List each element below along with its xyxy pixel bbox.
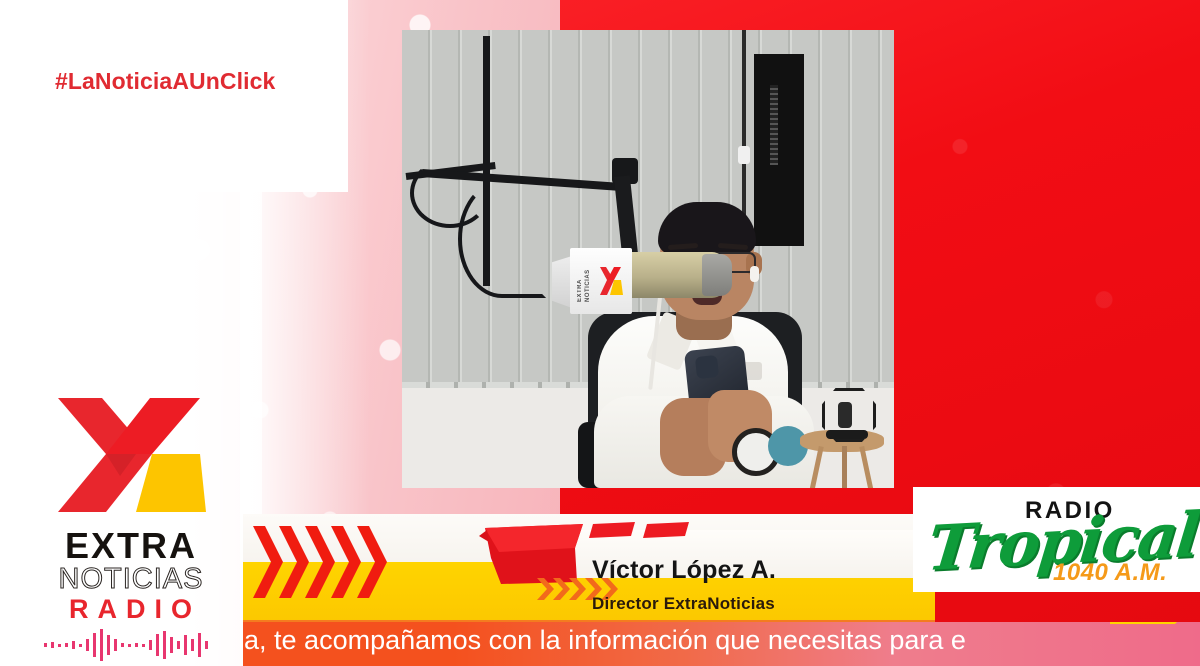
radio-tropical-logo: RADIO Tropical 1040 A.M.: [913, 487, 1200, 592]
x-logo-icon: [40, 392, 222, 524]
blinds-clip: [738, 146, 750, 164]
lamp-base: [826, 430, 868, 439]
earbud-right: [750, 266, 759, 282]
audio-waveform-icon: [40, 625, 216, 665]
microphone-capsule: [702, 254, 732, 296]
ticker-arrow-icon: [1110, 622, 1200, 624]
ticker-text: na, te acompañamos con la información qu…: [243, 625, 966, 656]
mic-cable-drop: [458, 180, 546, 298]
guest-name: Víctor López A.: [592, 556, 776, 585]
extranoticias-logo: EXTRA NOTICIAS RADIO: [40, 392, 222, 665]
live-video-feed[interactable]: EXTRA NOTICIAS: [402, 30, 894, 488]
lower-third-banner: Víctor López A. Director ExtraNoticias: [243, 514, 935, 622]
guest-role: Director ExtraNoticias: [592, 594, 775, 614]
phone-camera-module: [695, 355, 719, 379]
hashtag-label: #LaNoticiaAUnClick: [55, 68, 275, 95]
black-wall-panel: [754, 54, 804, 246]
blinds-chain: [770, 85, 778, 165]
news-ticker: na, te acompañamos con la información qu…: [243, 622, 1200, 666]
mic-flag-text: EXTRA NOTICIAS: [576, 262, 592, 302]
logo-text-radio: RADIO: [40, 594, 222, 625]
logo-text-noticias: NOTICIAS: [40, 564, 222, 594]
tropical-frequency: 1040 A.M.: [1053, 559, 1167, 587]
broadcast-screen: #LaNoticiaAUnClick EXTRA NOTICIAS RADIO: [0, 0, 1200, 666]
red-dashes-icon: [589, 522, 695, 538]
mic-flag-side: [552, 256, 572, 308]
chevron-arrows-icon: [253, 522, 393, 606]
side-table-leg: [842, 446, 847, 488]
lamp-bulb: [838, 402, 852, 428]
logo-text-extra: EXTRA: [40, 528, 222, 564]
x-logo-icon: [598, 266, 624, 296]
